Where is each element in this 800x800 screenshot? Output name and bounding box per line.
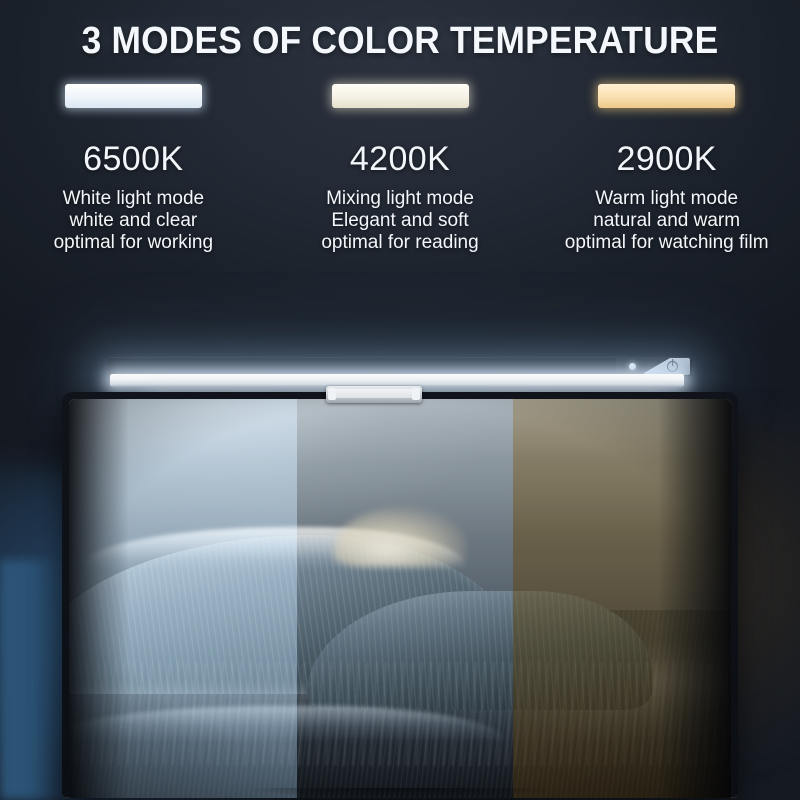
mode-quality-4200k: Elegant and soft xyxy=(321,210,478,232)
monitor-mounting-clip xyxy=(326,386,422,403)
monitor xyxy=(62,392,738,798)
monitor-stand-shadow xyxy=(250,788,550,798)
product-feature-poster: 3 MODES OF COLOR TEMPERATURE 6500K White… xyxy=(0,0,800,800)
mode-name-4200k: Mixing light mode xyxy=(321,188,478,210)
wave-photo-foam-streaks xyxy=(69,662,731,766)
color-swatch-4200k xyxy=(332,84,469,108)
swatch-fill-2900k xyxy=(598,84,735,108)
color-temperature-modes: 6500K White light mode white and clear o… xyxy=(0,80,800,270)
mode-description-6500k: White light mode white and clear optimal… xyxy=(54,188,213,255)
mode-name-2900k: Warm light mode xyxy=(565,188,769,210)
swatch-fill-4200k xyxy=(332,84,469,108)
mode-column-4200k: 4200K Mixing light mode Elegant and soft… xyxy=(267,80,534,270)
page-title: 3 MODES OF COLOR TEMPERATURE xyxy=(28,20,772,63)
light-bar-control-panel[interactable] xyxy=(616,358,690,375)
clip-tab-left xyxy=(328,388,336,400)
mode-column-2900k: 2900K Warm light mode natural and warm o… xyxy=(533,80,800,270)
mode-use-2900k: optimal for watching film xyxy=(565,232,769,254)
power-icon[interactable] xyxy=(667,361,678,372)
mode-use-4200k: optimal for reading xyxy=(321,232,478,254)
mode-description-4200k: Mixing light mode Elegant and soft optim… xyxy=(321,188,478,255)
mode-use-6500k: optimal for working xyxy=(54,232,213,254)
mode-quality-6500k: white and clear xyxy=(54,210,213,232)
monitor-screen xyxy=(69,399,731,798)
mode-name-6500k: White light mode xyxy=(54,188,213,210)
color-swatch-2900k xyxy=(598,84,735,108)
kelvin-value-6500k: 6500K xyxy=(83,140,183,179)
mode-column-6500k: 6500K White light mode white and clear o… xyxy=(0,80,267,270)
swatch-fill-6500k xyxy=(65,84,202,108)
clip-tab-right xyxy=(412,388,420,400)
mode-description-2900k: Warm light mode natural and warm optimal… xyxy=(565,188,769,255)
led-indicator-icon xyxy=(629,363,636,370)
color-swatch-6500k xyxy=(65,84,202,108)
kelvin-value-2900k: 2900K xyxy=(617,140,717,179)
mode-quality-2900k: natural and warm xyxy=(565,210,769,232)
kelvin-value-4200k: 4200K xyxy=(350,140,450,179)
